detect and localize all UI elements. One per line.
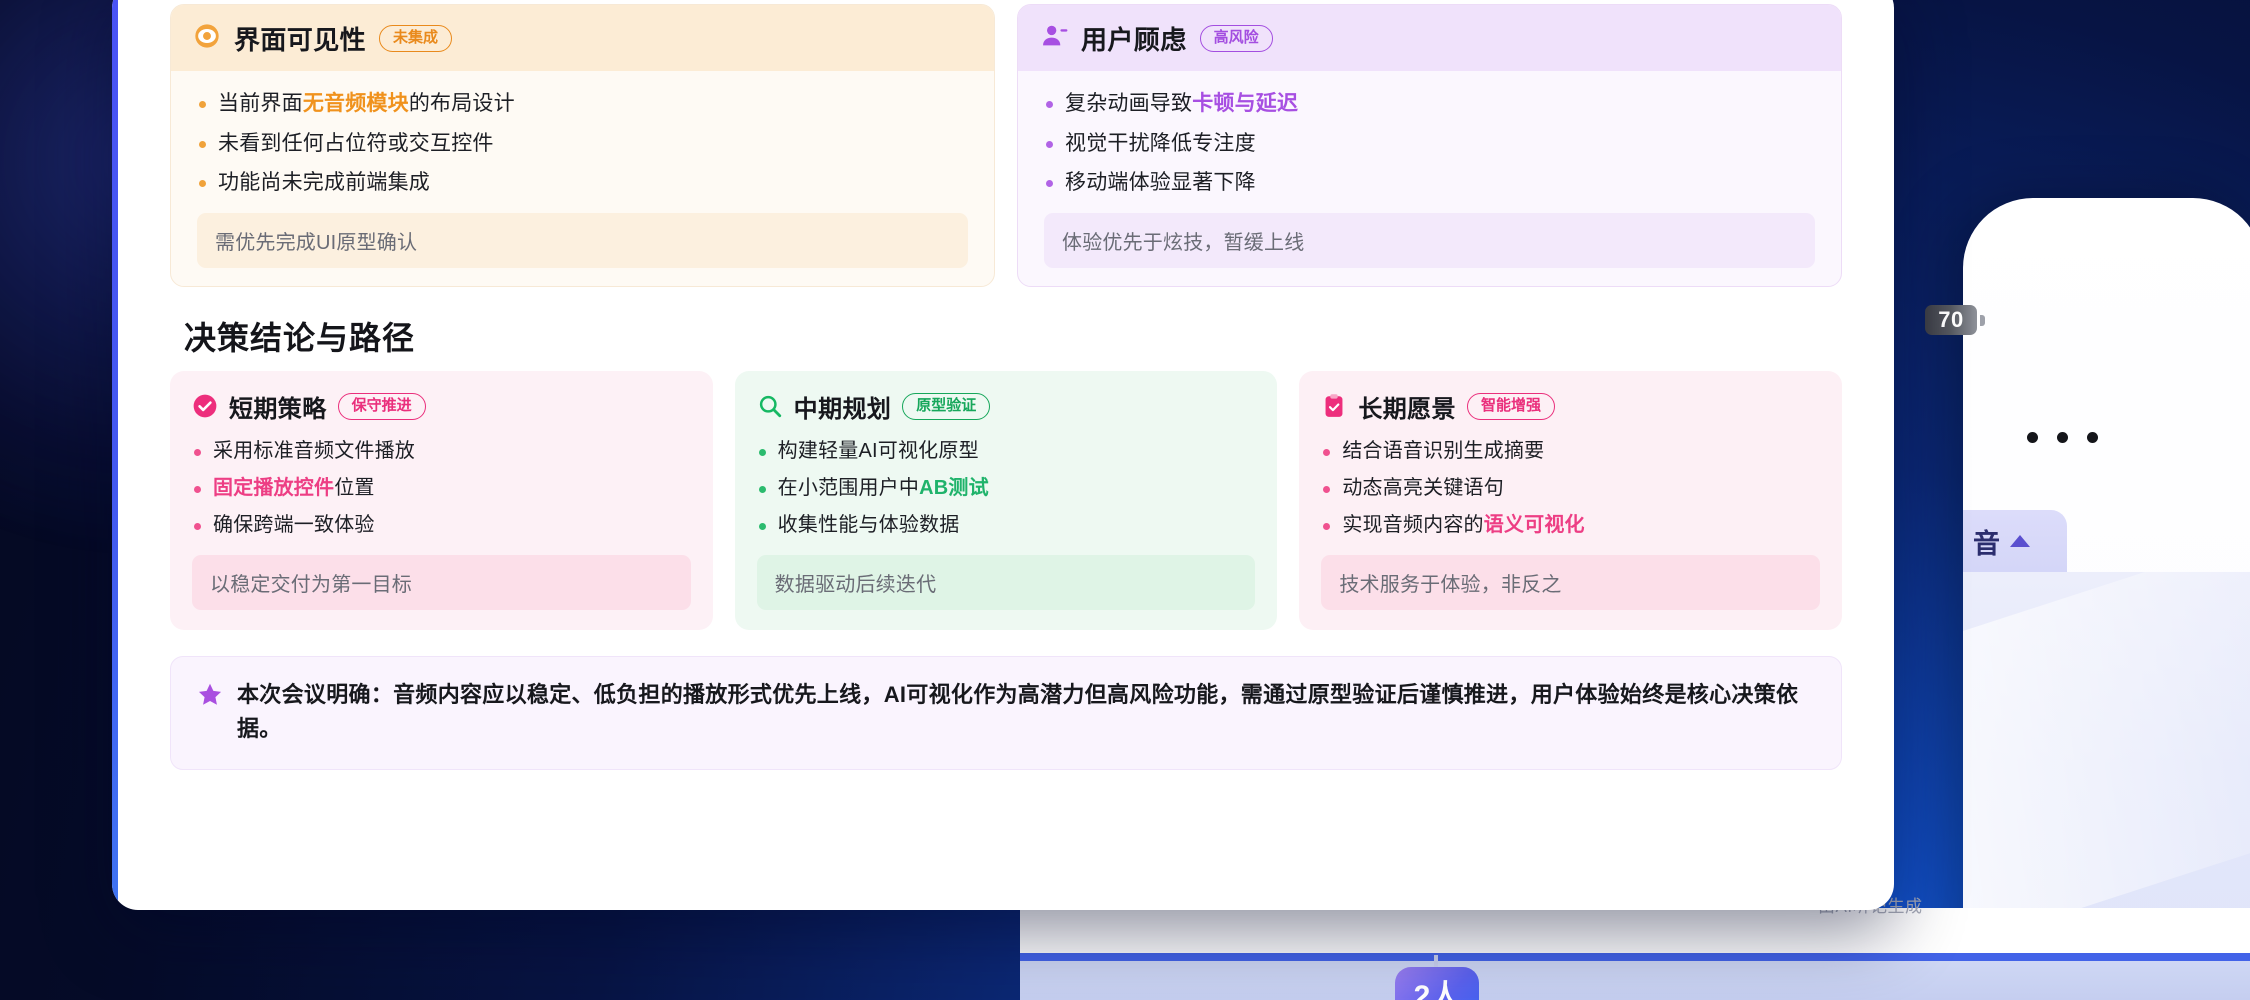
list-item: 固定播放控件位置 bbox=[192, 474, 691, 503]
path-card-header: 中期规划 原型验证 bbox=[757, 389, 1256, 424]
bullet-post: 的布局设计 bbox=[409, 92, 515, 115]
people-count-chip[interactable]: 2人 bbox=[1395, 967, 1479, 1000]
bullet-pre: 功能尚未完成前端集成 bbox=[218, 171, 430, 194]
insight-card-header: 用户顾虑 高风险 bbox=[1018, 5, 1841, 71]
status-badge: 未集成 bbox=[379, 25, 452, 52]
battery-nub-icon bbox=[1980, 315, 1985, 326]
more-dots-icon[interactable] bbox=[2027, 432, 2098, 443]
check-circle-icon bbox=[192, 393, 218, 419]
list-item: 结合语音识别生成摘要 bbox=[1321, 437, 1820, 466]
insight-note: 体验优先于炫技，暂缓上线 bbox=[1044, 213, 1815, 268]
list-item: 采用标准音频文件播放 bbox=[192, 437, 691, 466]
path-note: 数据驱动后续迭代 bbox=[757, 555, 1256, 610]
battery-indicator: 70 bbox=[1925, 305, 1985, 335]
list-item: 实现音频内容的语义可视化 bbox=[1321, 511, 1820, 540]
clipboard-check-icon bbox=[1321, 393, 1347, 419]
insight-card-title: 界面可见性 bbox=[234, 20, 366, 57]
bullet-highlight: 固定播放控件 bbox=[213, 477, 334, 499]
audio-chip[interactable]: 音 bbox=[1963, 510, 2067, 572]
bullet-pre: 视觉干扰降低专注度 bbox=[1065, 132, 1256, 155]
battery-level-label: 70 bbox=[1925, 305, 1977, 335]
bullet-pre: 构建轻量AI可视化原型 bbox=[778, 440, 979, 462]
list-item: 在小范围用户中AB测试 bbox=[757, 474, 1256, 503]
path-card-title: 短期策略 bbox=[229, 389, 327, 424]
path-card-mid-term: 中期规划 原型验证 构建轻量AI可视化原型 在小范围用户中AB测试 收集性能与体… bbox=[735, 371, 1278, 630]
chevron-up-icon bbox=[2010, 535, 2030, 547]
bullet-pre: 实现音频内容的 bbox=[1342, 514, 1483, 536]
list-item: 功能尚未完成前端集成 bbox=[197, 168, 968, 199]
list-item: 视觉干扰降低专注度 bbox=[1044, 129, 1815, 160]
path-row: 短期策略 保守推进 采用标准音频文件播放 固定播放控件位置 确保跨端一致体验 以… bbox=[170, 371, 1842, 630]
path-card-header: 短期策略 保守推进 bbox=[192, 389, 691, 424]
status-badge: 保守推进 bbox=[338, 393, 426, 420]
bullet-pre: 动态高亮关键语句 bbox=[1342, 477, 1504, 499]
insight-card-ui-visibility: 界面可见性 未集成 当前界面无音频模块的布局设计 未看到任何占位符或交互控件 功… bbox=[170, 4, 995, 287]
insight-card-body: 当前界面无音频模块的布局设计 未看到任何占位符或交互控件 功能尚未完成前端集成 … bbox=[171, 71, 994, 286]
path-card-header: 长期愿景 智能增强 bbox=[1321, 389, 1820, 424]
path-card-short-term: 短期策略 保守推进 采用标准音频文件播放 固定播放控件位置 确保跨端一致体验 以… bbox=[170, 371, 713, 630]
list-item: 动态高亮关键语句 bbox=[1321, 474, 1820, 503]
star-icon bbox=[197, 682, 223, 713]
search-icon bbox=[757, 393, 783, 419]
audio-chip-label: 音 bbox=[1973, 522, 2000, 561]
dot-2 bbox=[2057, 432, 2068, 443]
insight-card-body: 复杂动画导致卡顿与延迟 视觉干扰降低专注度 移动端体验显著下降 体验优先于炫技，… bbox=[1018, 71, 1841, 286]
bullet-list: 采用标准音频文件播放 固定播放控件位置 确保跨端一致体验 bbox=[192, 437, 691, 541]
bottom-panel-strip bbox=[1020, 961, 2250, 1000]
bullet-list: 构建轻量AI可视化原型 在小范围用户中AB测试 收集性能与体验数据 bbox=[757, 437, 1256, 541]
path-card-long-term: 长期愿景 智能增强 结合语音识别生成摘要 动态高亮关键语句 实现音频内容的语义可… bbox=[1299, 371, 1842, 630]
summary-text: 本次会议明确：音频内容应以稳定、低负担的播放形式优先上线，AI可视化作为高潜力但… bbox=[237, 678, 1815, 746]
list-item: 确保跨端一致体验 bbox=[192, 511, 691, 540]
path-card-title: 中期规划 bbox=[794, 389, 892, 424]
status-badge: 原型验证 bbox=[902, 393, 990, 420]
insight-row: 界面可见性 未集成 当前界面无音频模块的布局设计 未看到任何占位符或交互控件 功… bbox=[170, 4, 1842, 287]
document-card: 界面可见性 未集成 当前界面无音频模块的布局设计 未看到任何占位符或交互控件 功… bbox=[112, 0, 1894, 910]
path-note: 以稳定交付为第一目标 bbox=[192, 555, 691, 610]
list-item: 构建轻量AI可视化原型 bbox=[757, 437, 1256, 466]
summary-banner: 本次会议明确：音频内容应以稳定、低负担的播放形式优先上线，AI可视化作为高潜力但… bbox=[170, 656, 1842, 770]
section-title: 决策结论与路径 bbox=[184, 313, 1842, 359]
bullet-highlight: 语义可视化 bbox=[1484, 514, 1585, 536]
bullet-pre: 复杂动画导致 bbox=[1065, 92, 1192, 115]
bullet-pre: 确保跨端一致体验 bbox=[213, 514, 375, 536]
path-note: 技术服务于体验，非反之 bbox=[1321, 555, 1820, 610]
document-content: 界面可见性 未集成 当前界面无音频模块的布局设计 未看到任何占位符或交互控件 功… bbox=[118, 0, 1894, 910]
bullet-pre: 当前界面 bbox=[218, 92, 303, 115]
bullet-post: 位置 bbox=[334, 477, 374, 499]
bottom-white-fill bbox=[1020, 908, 2250, 953]
list-item: 当前界面无音频模块的布局设计 bbox=[197, 89, 968, 120]
path-card-title: 长期愿景 bbox=[1358, 389, 1456, 424]
bullet-pre: 结合语音识别生成摘要 bbox=[1342, 440, 1544, 462]
bullet-pre: 未看到任何占位符或交互控件 bbox=[218, 132, 494, 155]
dot-1 bbox=[2027, 432, 2038, 443]
insight-note: 需优先完成UI原型确认 bbox=[197, 213, 968, 268]
dot-3 bbox=[2087, 432, 2098, 443]
status-badge: 智能增强 bbox=[1467, 393, 1555, 420]
bullet-list: 复杂动画导致卡顿与延迟 视觉干扰降低专注度 移动端体验显著下降 bbox=[1044, 89, 1815, 199]
list-item: 复杂动画导致卡顿与延迟 bbox=[1044, 89, 1815, 120]
bullet-highlight: 无音频模块 bbox=[303, 92, 409, 115]
list-item: 收集性能与体验数据 bbox=[757, 511, 1256, 540]
user-minus-icon bbox=[1040, 22, 1068, 55]
insight-card-header: 界面可见性 未集成 bbox=[171, 5, 994, 71]
bottom-accent-strip bbox=[1020, 953, 2250, 961]
insight-card-user-concerns: 用户顾虑 高风险 复杂动画导致卡顿与延迟 视觉干扰降低专注度 移动端体验显著下降… bbox=[1017, 4, 1842, 287]
insight-card-title: 用户顾虑 bbox=[1081, 20, 1187, 57]
bullet-list: 当前界面无音频模块的布局设计 未看到任何占位符或交互控件 功能尚未完成前端集成 bbox=[197, 89, 968, 199]
eye-icon bbox=[193, 22, 221, 55]
bullet-pre: 收集性能与体验数据 bbox=[778, 514, 960, 536]
bullet-highlight: AB测试 bbox=[919, 477, 989, 499]
bullet-pre: 在小范围用户中 bbox=[778, 477, 919, 499]
bullet-highlight: 卡顿与延迟 bbox=[1192, 92, 1298, 115]
list-item: 移动端体验显著下降 bbox=[1044, 168, 1815, 199]
bullet-list: 结合语音识别生成摘要 动态高亮关键语句 实现音频内容的语义可视化 bbox=[1321, 437, 1820, 541]
bullet-pre: 移动端体验显著下降 bbox=[1065, 171, 1256, 194]
bullet-pre: 采用标准音频文件播放 bbox=[213, 440, 415, 462]
list-item: 未看到任何占位符或交互控件 bbox=[197, 129, 968, 160]
status-badge: 高风险 bbox=[1200, 25, 1273, 52]
